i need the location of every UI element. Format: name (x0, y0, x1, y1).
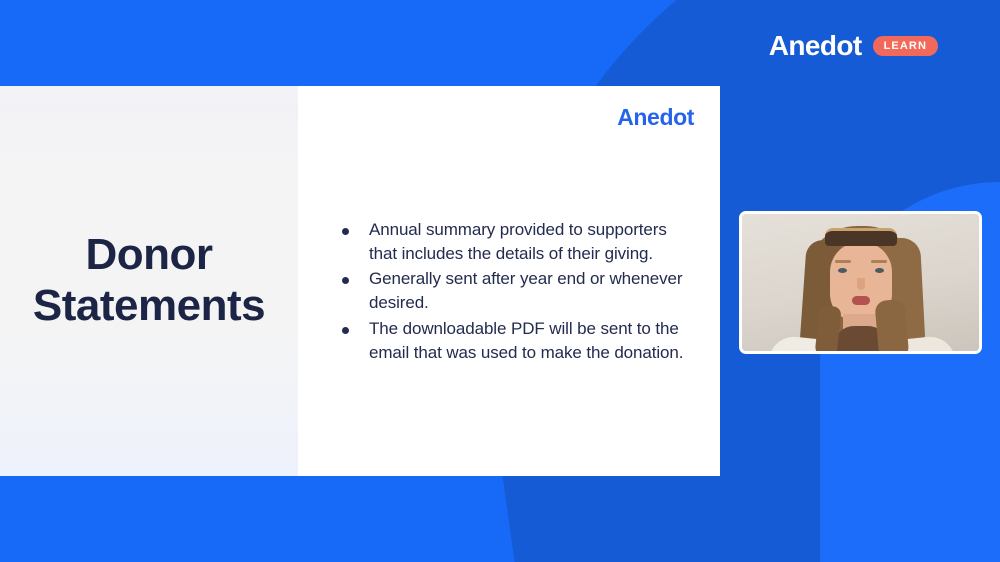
presenter-nose (857, 278, 865, 290)
video-frame (742, 214, 979, 351)
bullet-dot-icon (342, 327, 349, 334)
slide: Donor Statements Anedot Annual summary p… (0, 86, 720, 476)
anedot-learn-logo: Anedot LEARN (769, 32, 938, 60)
slide-title-panel: Donor Statements (0, 86, 298, 476)
bullet-dot-icon (342, 277, 349, 284)
anedot-wordmark: Anedot (769, 32, 862, 60)
slide-content-panel: Anedot Annual summary provided to suppor… (298, 86, 720, 476)
bullet-text: Generally sent after year end or wheneve… (369, 267, 698, 315)
bullet-text: Annual summary provided to supporters th… (369, 218, 698, 266)
list-item: Generally sent after year end or wheneve… (342, 267, 698, 315)
page-title: Donor Statements (33, 230, 265, 331)
presenter-eyebrow-left (835, 260, 851, 263)
presenter-eyebrow-right (871, 260, 887, 263)
sunglasses-on-head-icon (825, 228, 897, 246)
bullet-list: Annual summary provided to supporters th… (342, 218, 698, 366)
presenter-eye-left (838, 268, 847, 273)
bullet-text: The downloadable PDF will be sent to the… (369, 317, 698, 365)
list-item: The downloadable PDF will be sent to the… (342, 317, 698, 365)
bullet-dot-icon (342, 228, 349, 235)
learn-badge: LEARN (873, 36, 938, 56)
presenter-video-feed[interactable] (739, 211, 982, 354)
presentation-screen: Anedot LEARN Donor Statements Anedot Ann… (0, 0, 1000, 562)
list-item: Annual summary provided to supporters th… (342, 218, 698, 266)
slide-anedot-logo: Anedot (617, 106, 694, 129)
presenter-mouth (852, 296, 870, 305)
presenter-hair-front-right (874, 299, 909, 351)
presenter-eye-right (875, 268, 884, 273)
